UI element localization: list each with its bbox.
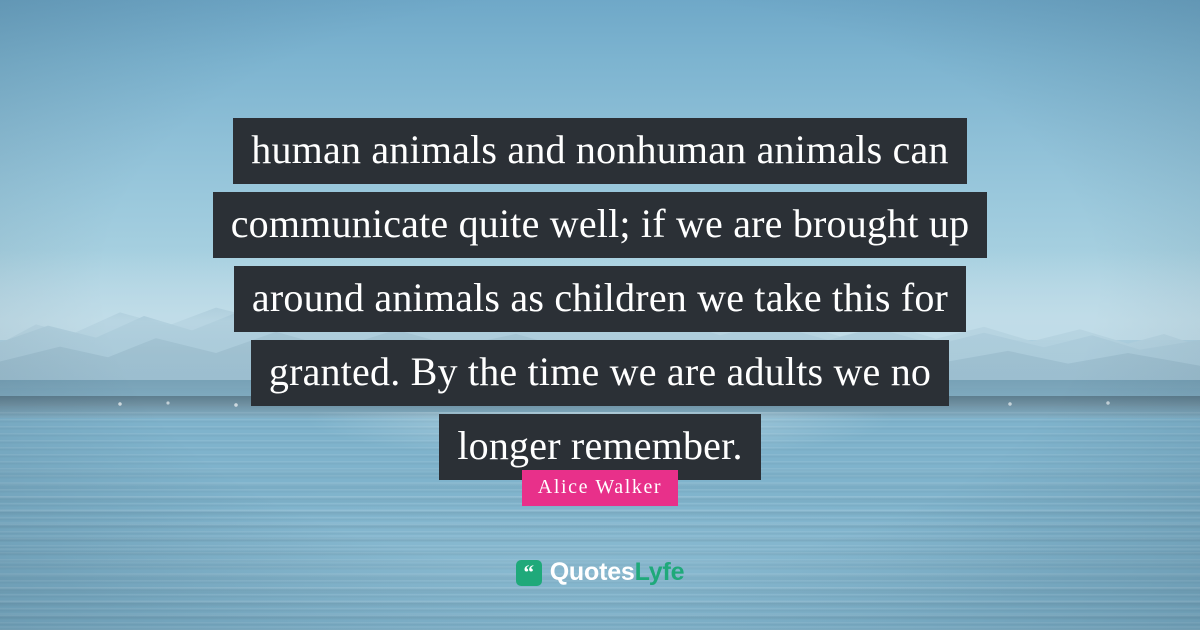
- quote-mark-glyph: “: [516, 558, 542, 586]
- quote-line: around animals as children we take this …: [234, 266, 966, 332]
- quote-line-row: around animals as children we take this …: [0, 266, 1200, 336]
- quote-line-row: communicate quite well; if we are brough…: [0, 192, 1200, 262]
- quote-line: communicate quite well; if we are brough…: [213, 192, 988, 258]
- quote-line-row: granted. By the time we are adults we no: [0, 340, 1200, 410]
- quoteslyfe-logo: “ QuotesLyfe: [0, 558, 1200, 587]
- quote-mark-icon: “: [516, 560, 542, 586]
- logo-word-lyfe: Lyfe: [635, 558, 685, 586]
- quote-block: human animals and nonhuman animals can c…: [0, 118, 1200, 488]
- author-row: Alice Walker: [0, 470, 1200, 506]
- quote-poster: human animals and nonhuman animals can c…: [0, 0, 1200, 630]
- logo-word-quotes: Quotes: [550, 558, 635, 586]
- quote-line-row: human animals and nonhuman animals can: [0, 118, 1200, 188]
- logo-wordmark: QuotesLyfe: [550, 558, 685, 587]
- quote-line: granted. By the time we are adults we no: [251, 340, 949, 406]
- quote-line: human animals and nonhuman animals can: [233, 118, 966, 184]
- author-name: Alice Walker: [522, 470, 678, 506]
